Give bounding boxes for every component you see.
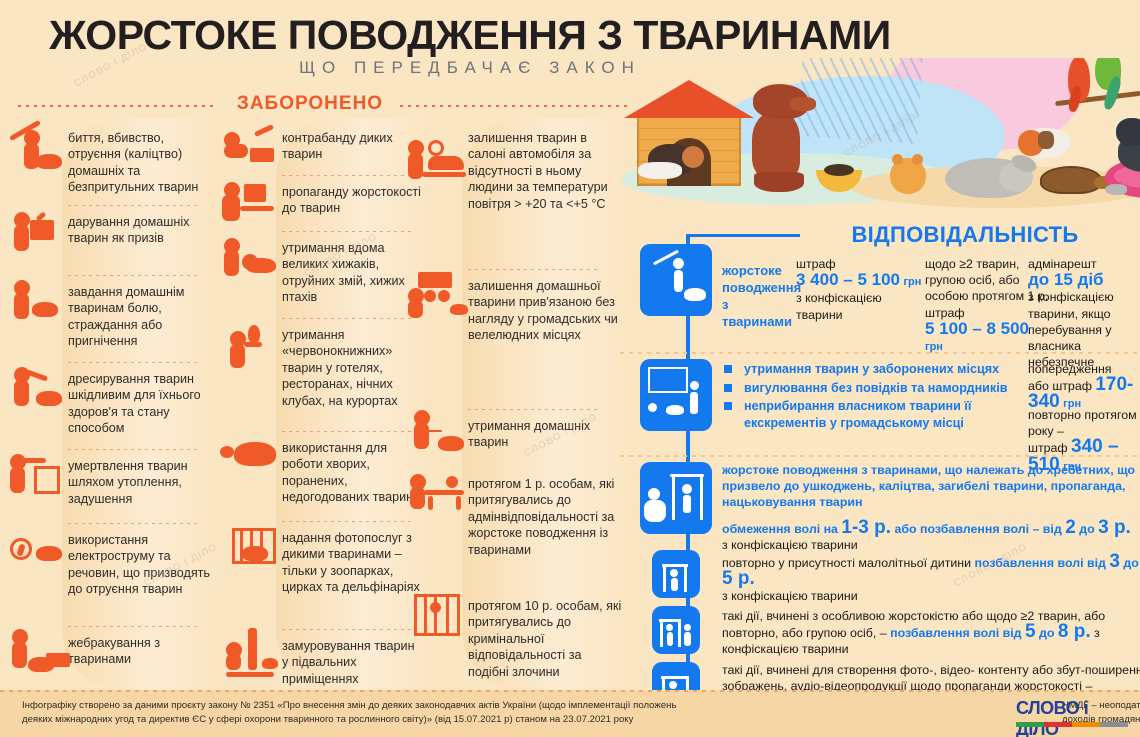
- red-bird-icon: [1068, 58, 1090, 102]
- title-rule: [690, 234, 800, 237]
- list-item: залишення домашньої тварини прив'язаною …: [468, 278, 623, 344]
- footer-source-note: Інфографіку створено за даними проєкту з…: [22, 699, 1022, 727]
- penalty-amount: 5 100 – 8 500: [925, 319, 1029, 338]
- list-item-text: залишення тварин в салоні автомобіля за …: [468, 130, 623, 212]
- person-hurting-dog-icon: [6, 278, 68, 324]
- abuse-before-child-icon: [652, 550, 700, 598]
- punishment-lead: обмеження волі на: [722, 522, 841, 536]
- hamster-icon: [890, 158, 926, 194]
- pet-in-car-icon: [406, 136, 468, 182]
- man-with-parrot-icon: [220, 323, 282, 369]
- item-separator: [282, 629, 412, 630]
- list-item: неприбирання власником тварини її екскре…: [722, 398, 1022, 431]
- group-abuse-icon: [652, 606, 700, 654]
- item-separator: [68, 626, 198, 627]
- prison-bars-icon: [406, 592, 468, 638]
- divider-line-right: [400, 105, 630, 107]
- caged-bear-photo-icon: [220, 524, 282, 570]
- forbidden-band: ЗАБОРОНЕНО: [0, 93, 640, 119]
- man-walking-dog-icon: [406, 408, 468, 454]
- logo-color-bar: [1016, 722, 1128, 727]
- turtle-icon: [1040, 166, 1102, 194]
- person-beating-dog-icon: [640, 244, 712, 316]
- punishment-term-2: 2: [1065, 517, 1076, 538]
- forbidden-label: ЗАБОРОНЕНО: [210, 93, 410, 115]
- footer-note-line-1: Інфографіку створено за даними проєкту з…: [22, 700, 676, 711]
- item-separator: [282, 318, 412, 319]
- list-item: биття, вбивство, отруєння (каліцтво) дом…: [68, 130, 210, 196]
- penalty-prefix: адмінарешт: [1028, 257, 1097, 271]
- drowning-animal-icon: [6, 452, 68, 498]
- injured-working-animal-icon: [220, 432, 282, 478]
- punishment-mid: до: [1036, 626, 1058, 640]
- footer-divider: [0, 690, 1140, 692]
- list-item: завдання домашнім тваринам болю, стражда…: [68, 284, 210, 350]
- list-item: жебракування з тваринами: [68, 635, 210, 668]
- footer-note-line-2: деяких міжнародних угод та директив ЄС у…: [22, 713, 1022, 727]
- penalty-warning: попередженняабо штраф 170-340 грн: [1028, 361, 1140, 413]
- punishment-blue: позбавлення волі від: [975, 556, 1110, 570]
- item-separator: [468, 269, 598, 270]
- list-item-text: залишення домашньої тварини прив'язаною …: [468, 278, 623, 344]
- walling-up-animal-icon: [220, 628, 282, 674]
- white-puppy-icon: [638, 162, 682, 179]
- crime-text: жорстоке поводження з тваринами, що нале…: [722, 463, 1135, 509]
- list-item-text: протягом 10 р. особам, які притягувались…: [468, 598, 623, 680]
- violations-bullet-list: утримання тварин у заборонених місцях ви…: [722, 361, 1022, 433]
- list-item-text: утримання домашніх тварин: [468, 418, 623, 451]
- list-item: протягом 1 р. особам, які притягувались …: [468, 476, 623, 558]
- rabbit-icon: [945, 158, 1031, 198]
- punishment-tail: з конфіскацією тварини: [722, 589, 858, 603]
- punishment-line: обмеження волі на 1-3 р. або позбавлення…: [722, 520, 1140, 553]
- list-item: утримання домашніх тварин: [468, 418, 623, 451]
- item-separator: [282, 431, 412, 432]
- penalty-amount: до 15 діб: [1028, 270, 1104, 289]
- tied-dog-queue-icon: [406, 272, 468, 318]
- item-separator: [468, 409, 598, 410]
- punishment-mid: до: [1120, 556, 1139, 570]
- list-item: умертвлення тварин шляхом утоплення, зад…: [68, 458, 210, 507]
- list-item-text: дарування домашніх тварин як призів: [68, 214, 210, 247]
- punishment-lead: повторно у присутності малолітньої дитин…: [722, 556, 975, 570]
- penalty-unit: грн: [903, 276, 921, 288]
- gift-box-pet-icon: [6, 206, 68, 252]
- item-separator: [282, 175, 412, 176]
- punishment-term-1: 3: [1109, 551, 1120, 572]
- item-separator: [68, 275, 198, 276]
- list-item: використання електроструму та речовин, щ…: [68, 532, 210, 598]
- logo-text: СЛОВО і ДІЛО: [1016, 698, 1128, 737]
- punishment-term-2: 8 р.: [1058, 621, 1091, 642]
- punishment-line: повторно у присутності малолітньої дитин…: [722, 554, 1140, 605]
- responsibility-row: жорстоке поводження з тваринами штраф 3 …: [620, 244, 1140, 354]
- page-title: ЖОРСТОКЕ ПОВОДЖЕННЯ З ТВАРИНАМИ: [0, 12, 940, 59]
- list-item-text: завдання домашнім тваринам болю, стражда…: [68, 284, 210, 350]
- training-animal-icon: [6, 365, 68, 411]
- forbidden-column-2: контрабанду диких тварин пропаганду жорс…: [214, 118, 424, 690]
- item-separator: [68, 523, 198, 524]
- punishment-blue: позбавлення волі від: [890, 626, 1025, 640]
- row-label: жорстоке поводження з тваринами: [722, 262, 792, 330]
- list-item: дарування домашніх тварин як призів: [68, 214, 210, 247]
- punishment-term-1: 5: [1025, 621, 1036, 642]
- toy-mouse-icon: [1105, 184, 1127, 195]
- row-separator: [620, 352, 1140, 354]
- large-dog-icon: [750, 84, 812, 192]
- list-item: дресирування тварин шкідливим для їхньог…: [68, 371, 210, 437]
- infographic-page: ЖОРСТОКЕ ПОВОДЖЕННЯ З ТВАРИНАМИ ЩО ПЕРЕД…: [0, 0, 1140, 737]
- responsibility-row: жорстоке поводження з тваринами, що нале…: [620, 462, 1140, 552]
- punishment-term-1: 1-3 р.: [841, 517, 891, 538]
- responsibility-row: такі дії, вчинені з особливою жорстокіст…: [620, 606, 1140, 658]
- forbidden-column-1: биття, вбивство, отруєння (каліцтво) дом…: [0, 118, 210, 690]
- item-separator: [282, 231, 412, 232]
- beating-animal-icon: [6, 126, 68, 172]
- animal-abuse-filming-icon: [640, 462, 712, 534]
- crime-description: жорстоке поводження з тваринами, що нале…: [722, 462, 1140, 511]
- list-item-text: биття, вбивство, отруєння (каліцтво) дом…: [68, 130, 210, 196]
- list-item-text: протягом 1 р. особам, які притягувались …: [468, 476, 623, 558]
- smuggling-suitcase-icon: [220, 124, 282, 170]
- penalty-prefix: штраф: [796, 257, 836, 271]
- list-item-text: використання електроструму та речовин, щ…: [68, 532, 210, 598]
- forbidden-list: биття, вбивство, отруєння (каліцтво) дом…: [0, 118, 640, 690]
- electric-shock-icon: [6, 528, 68, 574]
- list-item: утримання тварин у заборонених місцях: [722, 361, 1022, 378]
- list-item: вигулювання без повідків та намордників: [722, 380, 1022, 397]
- item-separator: [282, 521, 412, 522]
- list-item-text: дресирування тварин шкідливим для їхньог…: [68, 371, 210, 437]
- punishment-mid: або позбавлення волі – від: [891, 522, 1065, 536]
- penalty-suffix: з конфіскацією тварини, якщо перебування…: [1028, 290, 1114, 369]
- computer-propaganda-icon: [220, 176, 282, 222]
- punishment-term-3: 3 р.: [1098, 517, 1131, 538]
- footer: Інфографіку створено за даними проєкту з…: [0, 690, 1140, 737]
- list-item-text: жебракування з тваринами: [68, 635, 210, 668]
- hero-illustration: [600, 58, 1140, 230]
- lion-at-home-icon: [220, 234, 282, 280]
- item-separator: [68, 362, 198, 363]
- caged-animals-walking-icon: [640, 359, 712, 431]
- green-parrot-icon: [1095, 58, 1121, 90]
- administrative-desk-icon: [406, 472, 468, 518]
- responsibility-panel: ВІДПОВІДАЛЬНІСТЬ жорстоке поводження з т…: [620, 222, 1140, 690]
- responsibility-row: утримання тварин у заборонених місцях ви…: [620, 359, 1140, 449]
- penalty-col-1: штраф 3 400 – 5 100 грн з конфіскацією т…: [796, 256, 926, 323]
- item-separator: [68, 449, 198, 450]
- row-separator: [620, 455, 1140, 457]
- divider-line-left: [18, 105, 218, 107]
- punishment-line: такі дії, вчинені з особливою жорстокіст…: [722, 608, 1140, 658]
- punishment-lead: такі дії, вчинені для створення фото-, в…: [722, 663, 1140, 693]
- list-item-text: умертвлення тварин шляхом утоплення, зад…: [68, 458, 210, 507]
- penalty-suffix: з конфіскацією тварини: [796, 291, 882, 321]
- list-item: залишення тварин в салоні автомобіля за …: [468, 130, 623, 212]
- slovo-i-dilo-logo[interactable]: СЛОВО і ДІЛО: [1016, 698, 1128, 729]
- item-separator: [68, 205, 198, 206]
- penalty-amount: 3 400 – 5 100: [796, 270, 900, 289]
- list-item: протягом 10 р. особам, які притягувались…: [468, 598, 623, 680]
- punishment-mid-2: до: [1076, 522, 1098, 536]
- guinea-pig-icon: [1018, 128, 1070, 158]
- responsibility-row: повторно у присутності малолітньої дитин…: [620, 550, 1140, 602]
- begging-with-animal-icon: [6, 625, 68, 671]
- punishment-term-2: 5 р.: [722, 568, 755, 589]
- forbidden-column-3: залишення тварин в салоні автомобіля за …: [400, 118, 640, 690]
